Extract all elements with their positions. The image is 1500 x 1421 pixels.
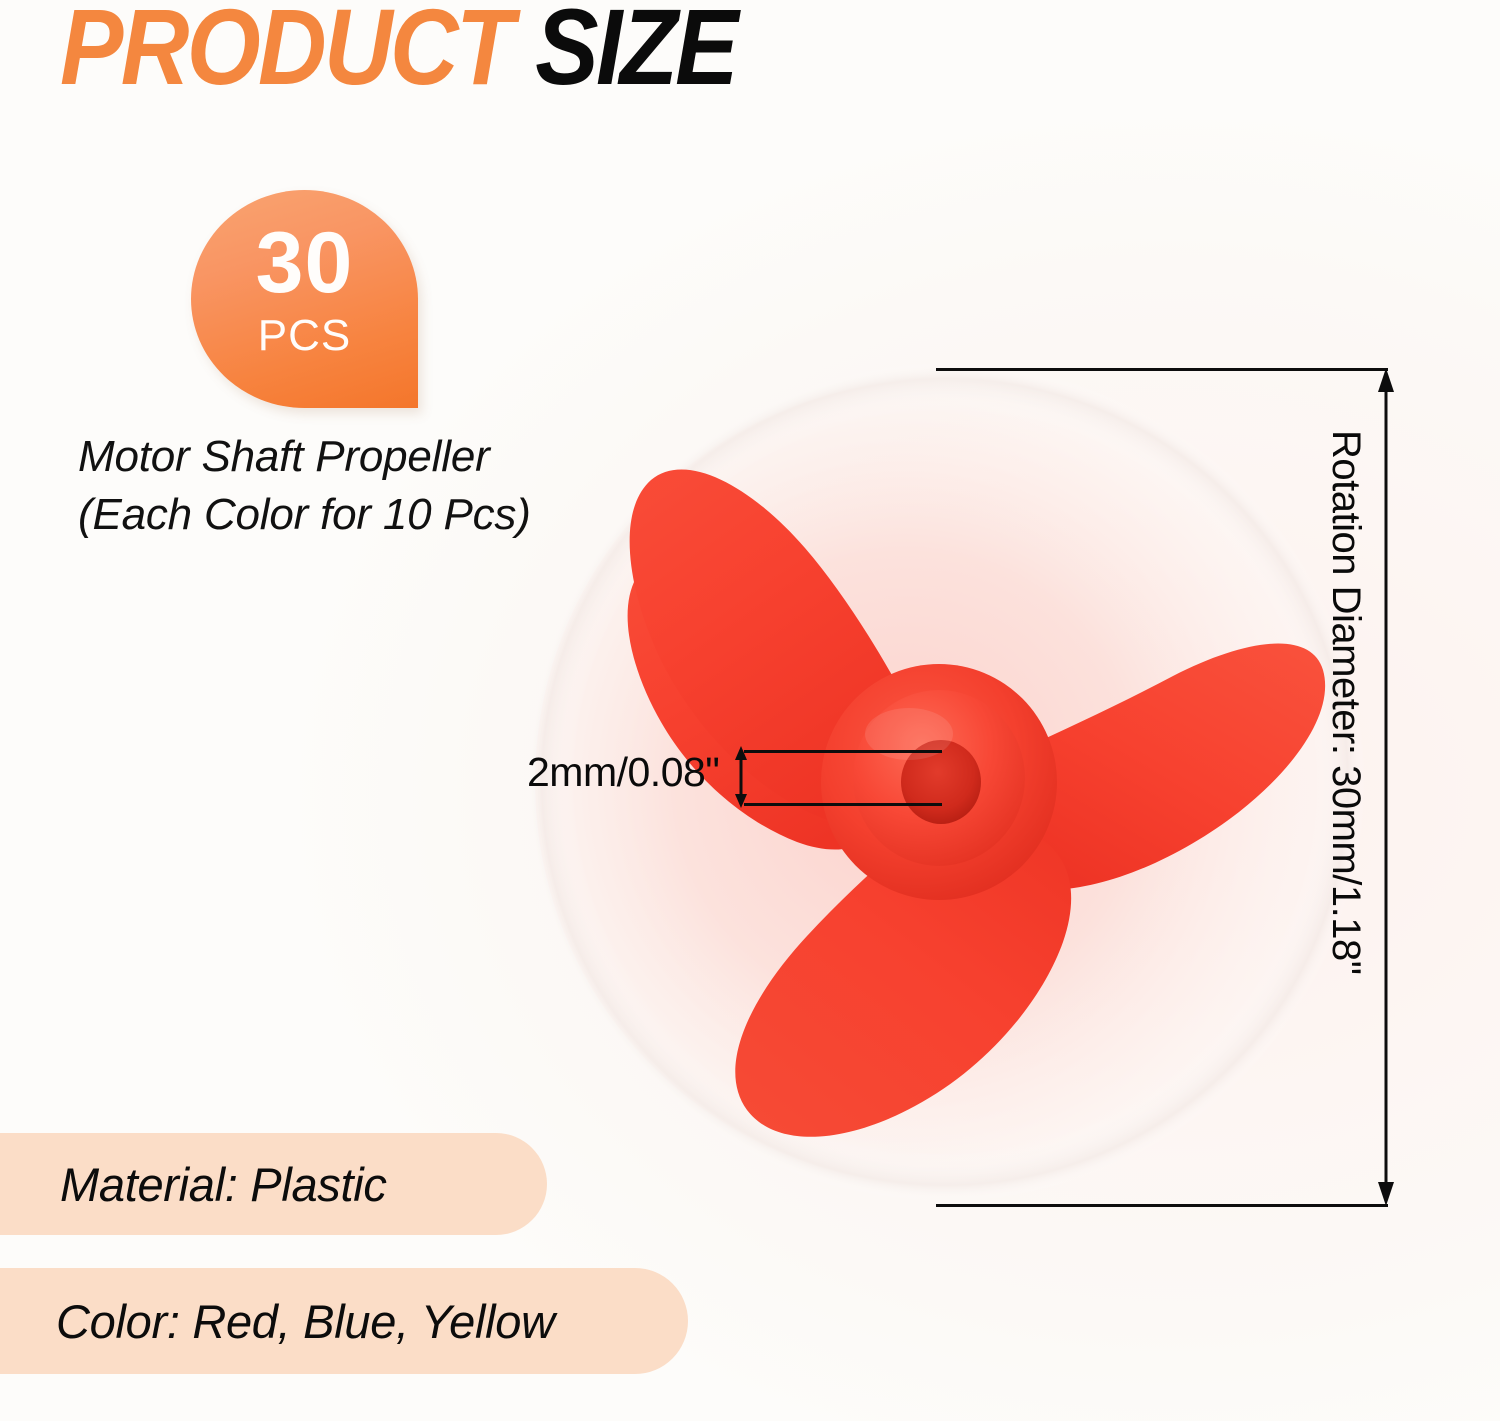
diameter-leader-line-top bbox=[936, 368, 1388, 371]
product-subtitle: Motor Shaft Propeller (Each Color for 10… bbox=[78, 428, 531, 544]
spec-material-text: Material: Plastic bbox=[60, 1157, 387, 1212]
bore-leader-line-top bbox=[744, 750, 942, 753]
spec-color-text: Color: Red, Blue, Yellow bbox=[56, 1294, 555, 1349]
badge-quantity: 30 bbox=[191, 220, 418, 306]
spec-pill-color: Color: Red, Blue, Yellow bbox=[0, 1268, 688, 1374]
bore-dimension-arrow bbox=[726, 745, 756, 809]
bore-leader-line-bottom bbox=[744, 803, 942, 806]
diameter-leader-line-bottom bbox=[936, 1204, 1388, 1207]
page-title: PRODUCT SIZE bbox=[60, 0, 736, 102]
product-size-infographic: PRODUCT SIZE 30 PCS Motor Shaft Propelle… bbox=[0, 0, 1500, 1421]
bore-dimension-label: 2mm/0.08" bbox=[527, 749, 719, 796]
title-word-product: PRODUCT bbox=[60, 0, 511, 107]
spec-pill-material: Material: Plastic bbox=[0, 1133, 547, 1235]
quantity-badge: 30 PCS bbox=[191, 190, 418, 408]
rotation-diameter-label: Rotation Diameter: 30mm/1.18" bbox=[1323, 430, 1368, 1070]
title-word-size: SIZE bbox=[535, 0, 736, 107]
diameter-dimension-arrow bbox=[1366, 366, 1406, 1208]
badge-unit: PCS bbox=[191, 314, 418, 358]
